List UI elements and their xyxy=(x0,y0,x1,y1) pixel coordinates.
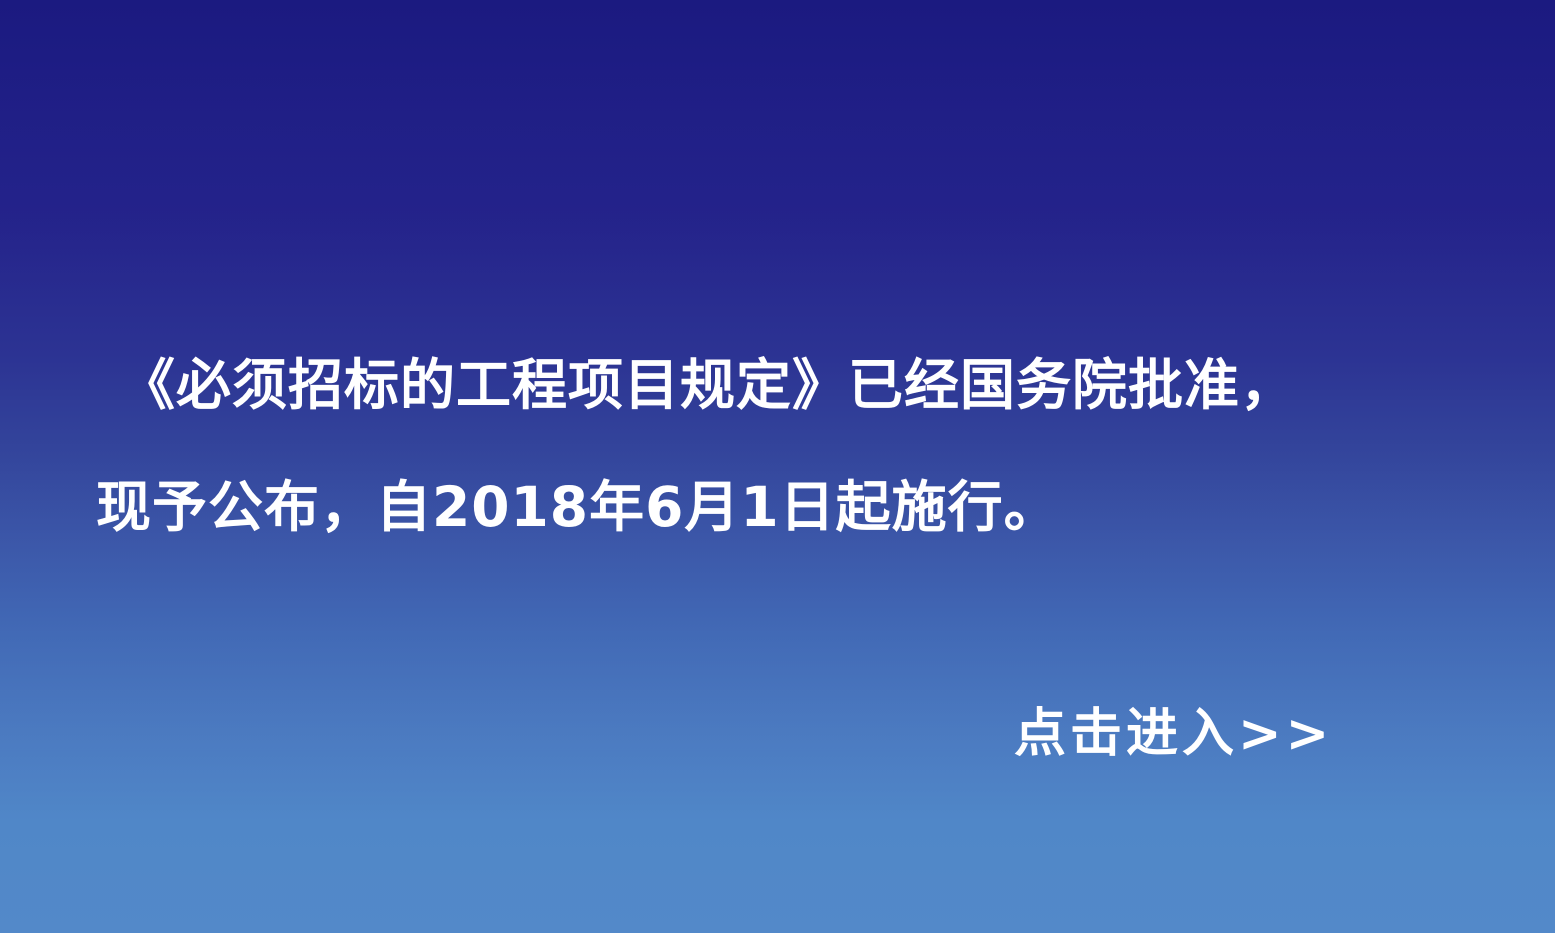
announcement-banner: 《必须招标的工程项目规定》已经国务院批准， 现予公布，自2018年6月1日起施行… xyxy=(0,0,1555,933)
cta-row: 点击进入>> xyxy=(0,688,1555,780)
announcement-line-1: 《必须招标的工程项目规定》已经国务院批准， xyxy=(96,324,1476,446)
announcement-text-block: 《必须招标的工程项目规定》已经国务院批准， 现予公布，自2018年6月1日起施行… xyxy=(96,324,1476,568)
enter-link[interactable]: 点击进入>> xyxy=(1014,688,1333,780)
announcement-line-2: 现予公布，自2018年6月1日起施行。 xyxy=(96,446,1476,568)
